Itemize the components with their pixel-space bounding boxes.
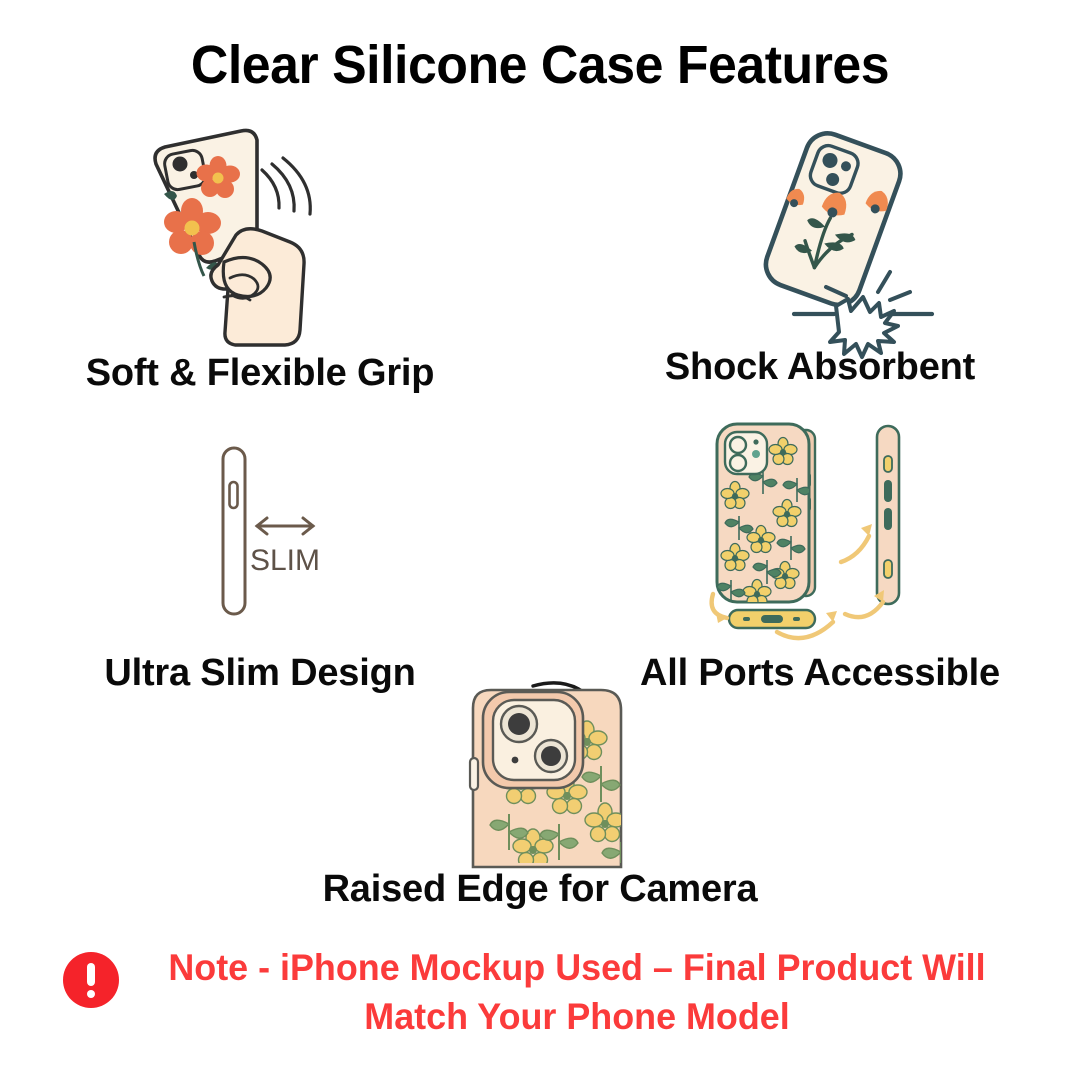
feature-infographic-page: Clear Silicone Case Features (0, 0, 1080, 1080)
page-title: Clear Silicone Case Features (22, 34, 1059, 96)
feature-label-soft-flexible-grip: Soft & Flexible Grip (0, 352, 520, 395)
feature-label-raised-edge-camera: Raised Edge for Camera (0, 868, 1080, 911)
hand-holding-flexible-case-illustration (120, 122, 380, 347)
exclamation-circle-icon (63, 952, 119, 1008)
feature-label-shock-absorbent: Shock Absorbent (560, 346, 1080, 389)
floral-case-ports-arrows-illustration (705, 418, 935, 653)
feature-label-ultra-slim-design: Ultra Slim Design (0, 652, 520, 695)
note-banner: Note - iPhone Mockup Used – Final Produc… (0, 944, 1080, 1042)
camera-bump-arrow-illustration (455, 668, 665, 863)
feature-label-all-ports-accessible: All Ports Accessible (560, 652, 1080, 695)
exclamation-dot (87, 990, 95, 998)
note-text: Note - iPhone Mockup Used – Final Produc… (150, 944, 1004, 1042)
phone-side-profile-slim-illustration: SLIM (185, 430, 365, 630)
phone-case-impact-burst-illustration (700, 124, 960, 339)
slim-caption: SLIM (250, 544, 320, 577)
exclamation-bar (87, 963, 95, 986)
